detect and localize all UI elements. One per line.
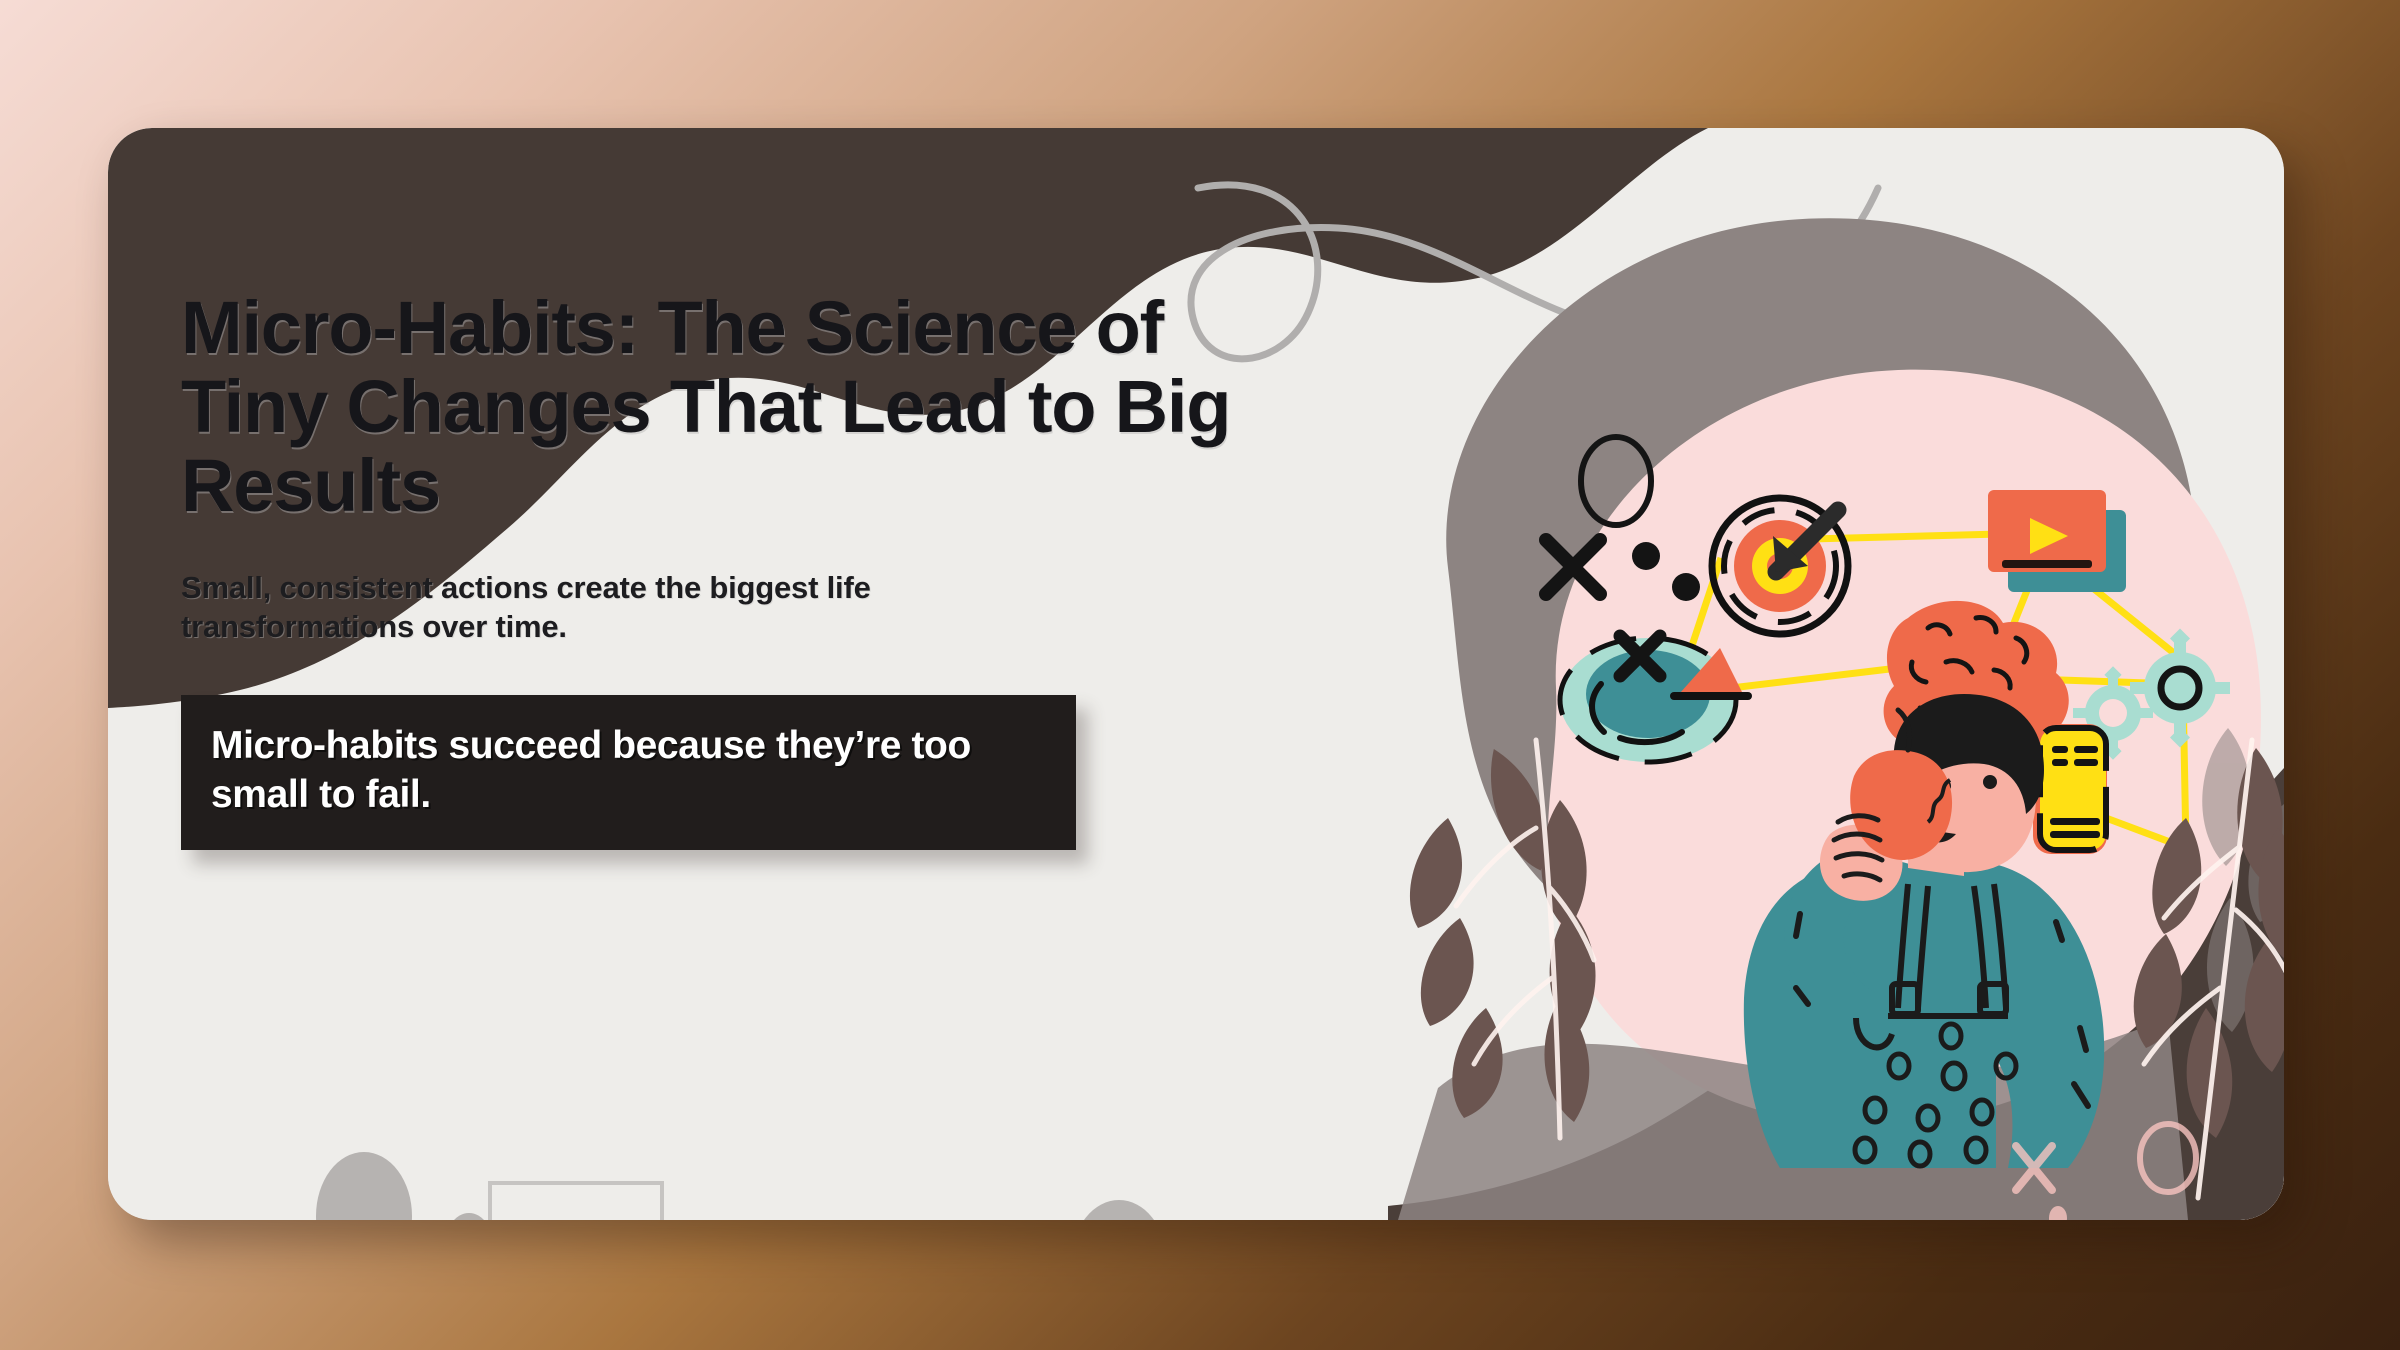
quote-text: Micro-habits succeed because they’re too… (211, 721, 1046, 820)
page-title: Micro-Habits: The Science of Tiny Change… (181, 288, 1241, 526)
subtitle-text: Small, consistent actions create the big… (181, 568, 981, 647)
slide-card: Micro-Habits: The Science of Tiny Change… (108, 128, 2284, 1220)
text-column: Micro-Habits: The Science of Tiny Change… (181, 288, 1241, 850)
video-card-icon (1988, 490, 2126, 592)
quote-callout-box: Micro-habits succeed because they’re too… (181, 695, 1076, 850)
checklist-phone-icon (2033, 724, 2107, 854)
